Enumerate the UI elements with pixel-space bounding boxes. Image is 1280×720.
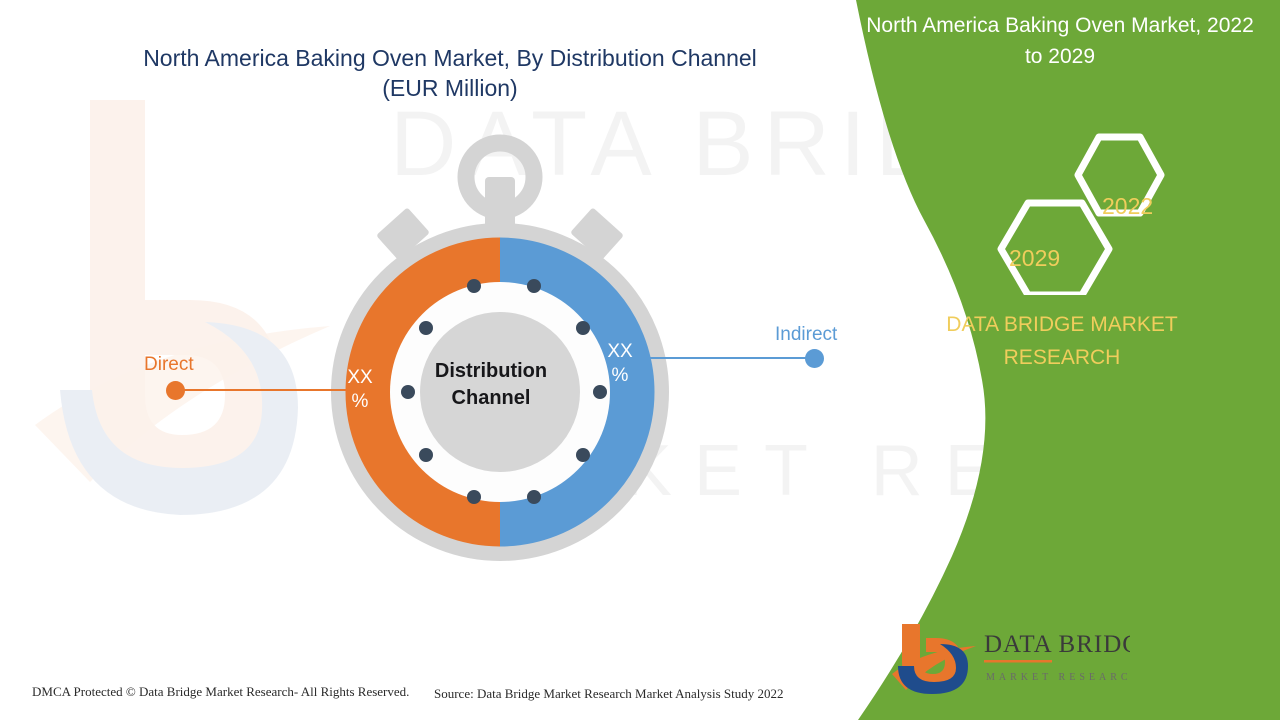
footer-dmca-notice: DMCA Protected © Data Bridge Market Rese… bbox=[32, 684, 409, 700]
green-panel-brand: DATA BRIDGE MARKET RESEARCH bbox=[862, 308, 1262, 374]
green-panel-title: North America Baking Oven Market, 2022 t… bbox=[860, 10, 1260, 72]
green-panel-brand-line1: DATA BRIDGE MARKET bbox=[862, 308, 1262, 341]
hexagon-label-2029: 2029 bbox=[1009, 245, 1060, 272]
callout-label-direct[interactable]: Direct bbox=[144, 354, 194, 376]
page-title-line1: North America Baking Oven Market, By Dis… bbox=[143, 45, 757, 71]
logo-wordmark: DATA BRIDGE bbox=[984, 631, 1130, 658]
logo-tagline: MARKET RESEARCH bbox=[986, 672, 1130, 683]
hexagon-label-2022: 2022 bbox=[1102, 193, 1153, 220]
infographic-canvas: DATA BRIDGE MARKET RESEARCH North Americ… bbox=[0, 0, 1280, 720]
green-panel-brand-line2: RESEARCH bbox=[862, 341, 1262, 374]
distribution-channel-donut-chart bbox=[300, 125, 700, 585]
slice-value-indirect: XX % bbox=[600, 340, 640, 388]
green-side-panel: North America Baking Oven Market, 2022 t… bbox=[820, 0, 1280, 720]
donut-center-label-line2: Channel bbox=[385, 385, 597, 412]
donut-center-label-line1: Distribution bbox=[385, 358, 597, 385]
callout-leader-indirect bbox=[620, 357, 815, 359]
donut-center-label: Distribution Channel bbox=[385, 358, 597, 412]
data-bridge-mark-icon bbox=[892, 624, 976, 694]
footer-source-note: Source: Data Bridge Market Research Mark… bbox=[434, 686, 783, 702]
callout-leader-direct bbox=[176, 389, 368, 391]
page-title-line2: (EUR Million) bbox=[382, 75, 517, 101]
callout-marker-direct bbox=[166, 381, 185, 400]
data-bridge-logo: DATA BRIDGE MARKET RESEARCH bbox=[890, 622, 1130, 696]
hexagon-group: 2022 2029 bbox=[980, 125, 1210, 295]
